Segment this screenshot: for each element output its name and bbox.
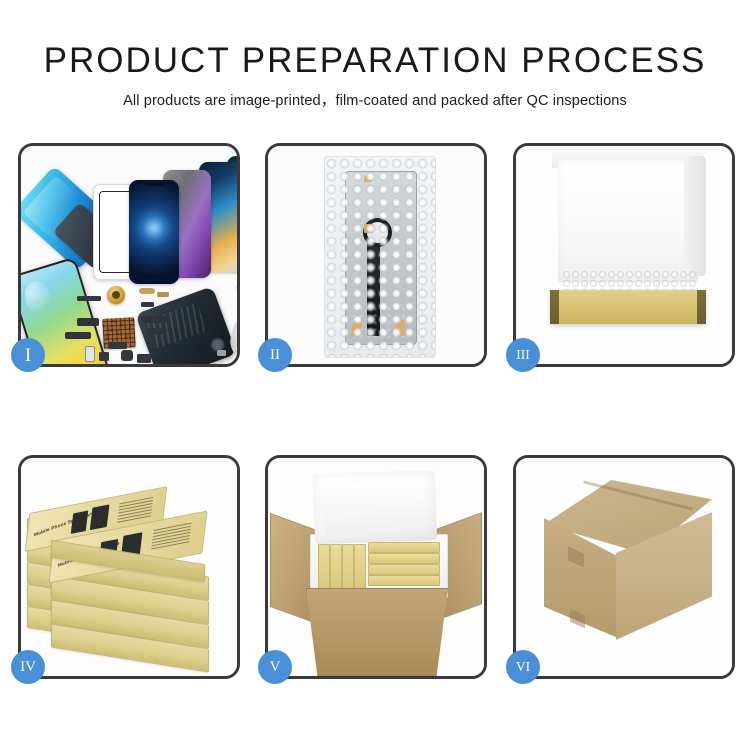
retail-box-in-carton [318, 544, 330, 590]
phone-blue-burst [129, 180, 179, 284]
box-stack: Mobile Phone Spare Parts Mobile Phone Sp… [23, 476, 237, 672]
process-step-panel-2[interactable]: II [265, 143, 487, 367]
spare-part [77, 296, 101, 301]
carton-front-panel [306, 588, 448, 676]
flex-cable-part [141, 316, 169, 323]
flex-cable-part [77, 318, 99, 326]
process-panel-grid: I II [0, 0, 750, 750]
step-badge-1: I [11, 338, 45, 372]
process-step-panel-1[interactable]: I [18, 143, 240, 367]
kraft-tray-end-left [550, 290, 559, 324]
spare-part [137, 354, 151, 363]
panel-4-image: Mobile Phone Spare Parts Mobile Phone Sp… [21, 458, 237, 676]
retail-box-in-carton [354, 544, 366, 590]
box-spec-lines [151, 523, 192, 552]
retail-box-in-carton [368, 553, 440, 564]
process-step-panel-4[interactable]: Mobile Phone Spare Parts Mobile Phone Sp… [18, 455, 240, 679]
foam-lid [558, 160, 698, 282]
spare-part [99, 352, 109, 361]
spare-part [85, 346, 95, 362]
flex-cable-part [147, 328, 167, 334]
flex-cable-part [65, 332, 91, 339]
foam-side [684, 156, 706, 276]
step-badge-6: VI [506, 650, 540, 684]
box-screen-art [90, 504, 110, 530]
speaker-coil-part [107, 286, 125, 304]
step-badge-5: V [258, 650, 292, 684]
panel-1-image [21, 146, 237, 364]
step-badge-3: III [506, 338, 540, 372]
process-step-panel-5[interactable]: V [265, 455, 487, 679]
retail-box-in-carton [368, 575, 440, 586]
spare-part [121, 350, 133, 361]
retail-box-in-carton [368, 564, 440, 575]
process-step-panel-3[interactable]: III [513, 143, 735, 367]
retail-box-in-carton [342, 544, 354, 590]
panel-2-image [268, 146, 484, 364]
panel-6-image [516, 458, 732, 676]
box-spec-lines [117, 497, 154, 525]
box-screen-art [71, 511, 88, 534]
panel-3-image [516, 146, 732, 364]
process-step-panel-6[interactable]: VI [513, 455, 735, 679]
step-badge-2: II [258, 338, 292, 372]
step-badge-4: IV [11, 650, 45, 684]
kraft-tray-box [550, 290, 706, 324]
foam-open-lid [313, 470, 437, 544]
spare-part [139, 288, 155, 294]
kraft-tray-end-right [697, 290, 706, 324]
panel-5-image [268, 458, 484, 676]
spare-part [109, 342, 127, 349]
bubble-wrap-bag [324, 156, 436, 358]
retail-box-in-carton [368, 542, 440, 553]
bubble-texture [325, 157, 435, 357]
spare-part [141, 302, 154, 307]
spare-part [157, 292, 169, 297]
product-preparation-process-page: PRODUCT PREPARATION PROCESS All products… [0, 0, 750, 750]
retail-box-in-carton [330, 544, 342, 590]
spare-part [217, 350, 226, 356]
